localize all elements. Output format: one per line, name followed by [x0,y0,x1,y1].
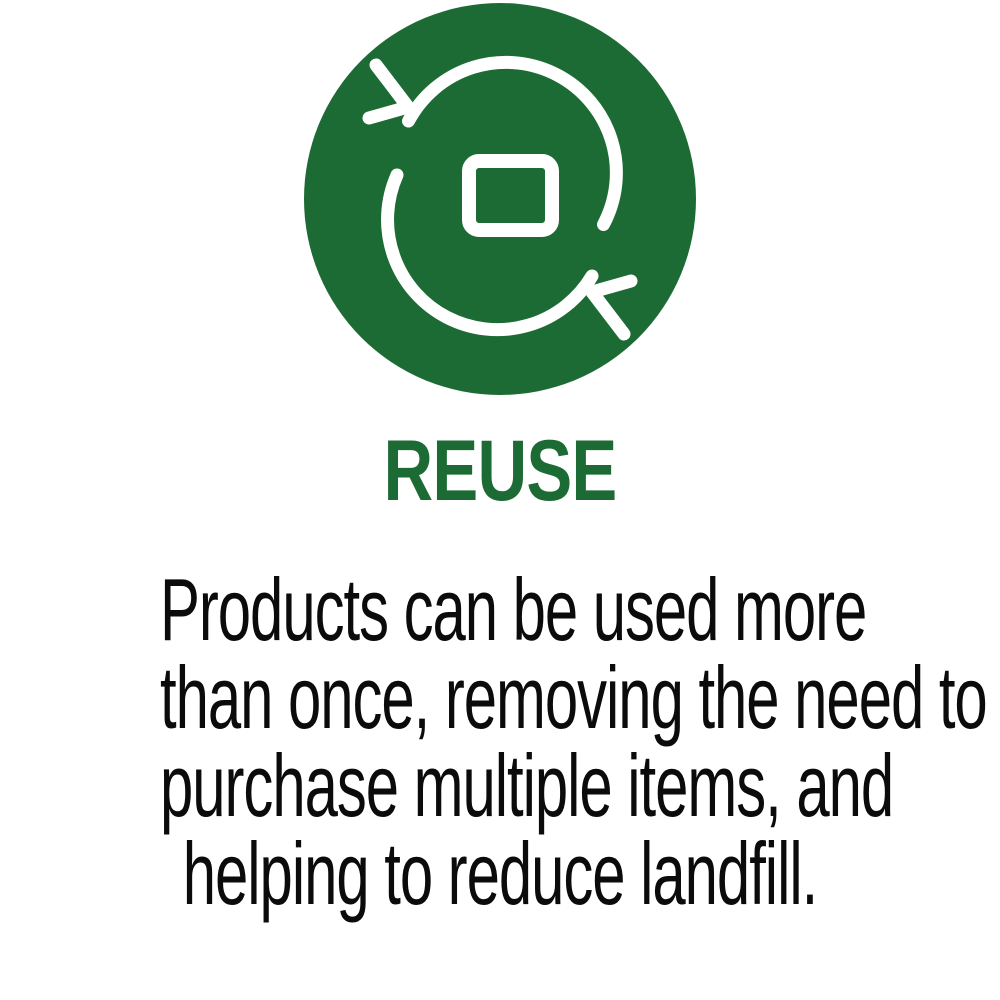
body-line: than once, removing the need to [160,654,840,742]
body-line: purchase multiple items, and [160,742,840,830]
page-title: REUSE [100,428,900,514]
reuse-cycle-icon-svg [304,3,696,395]
body-line: helping to reduce landfill. [160,830,840,918]
reuse-info-card: REUSE Products can be used more than onc… [0,0,1000,1000]
reuse-cycle-icon [304,3,696,395]
body-copy: Products can be used more than once, rem… [0,566,1000,918]
body-line: Products can be used more [160,566,840,654]
